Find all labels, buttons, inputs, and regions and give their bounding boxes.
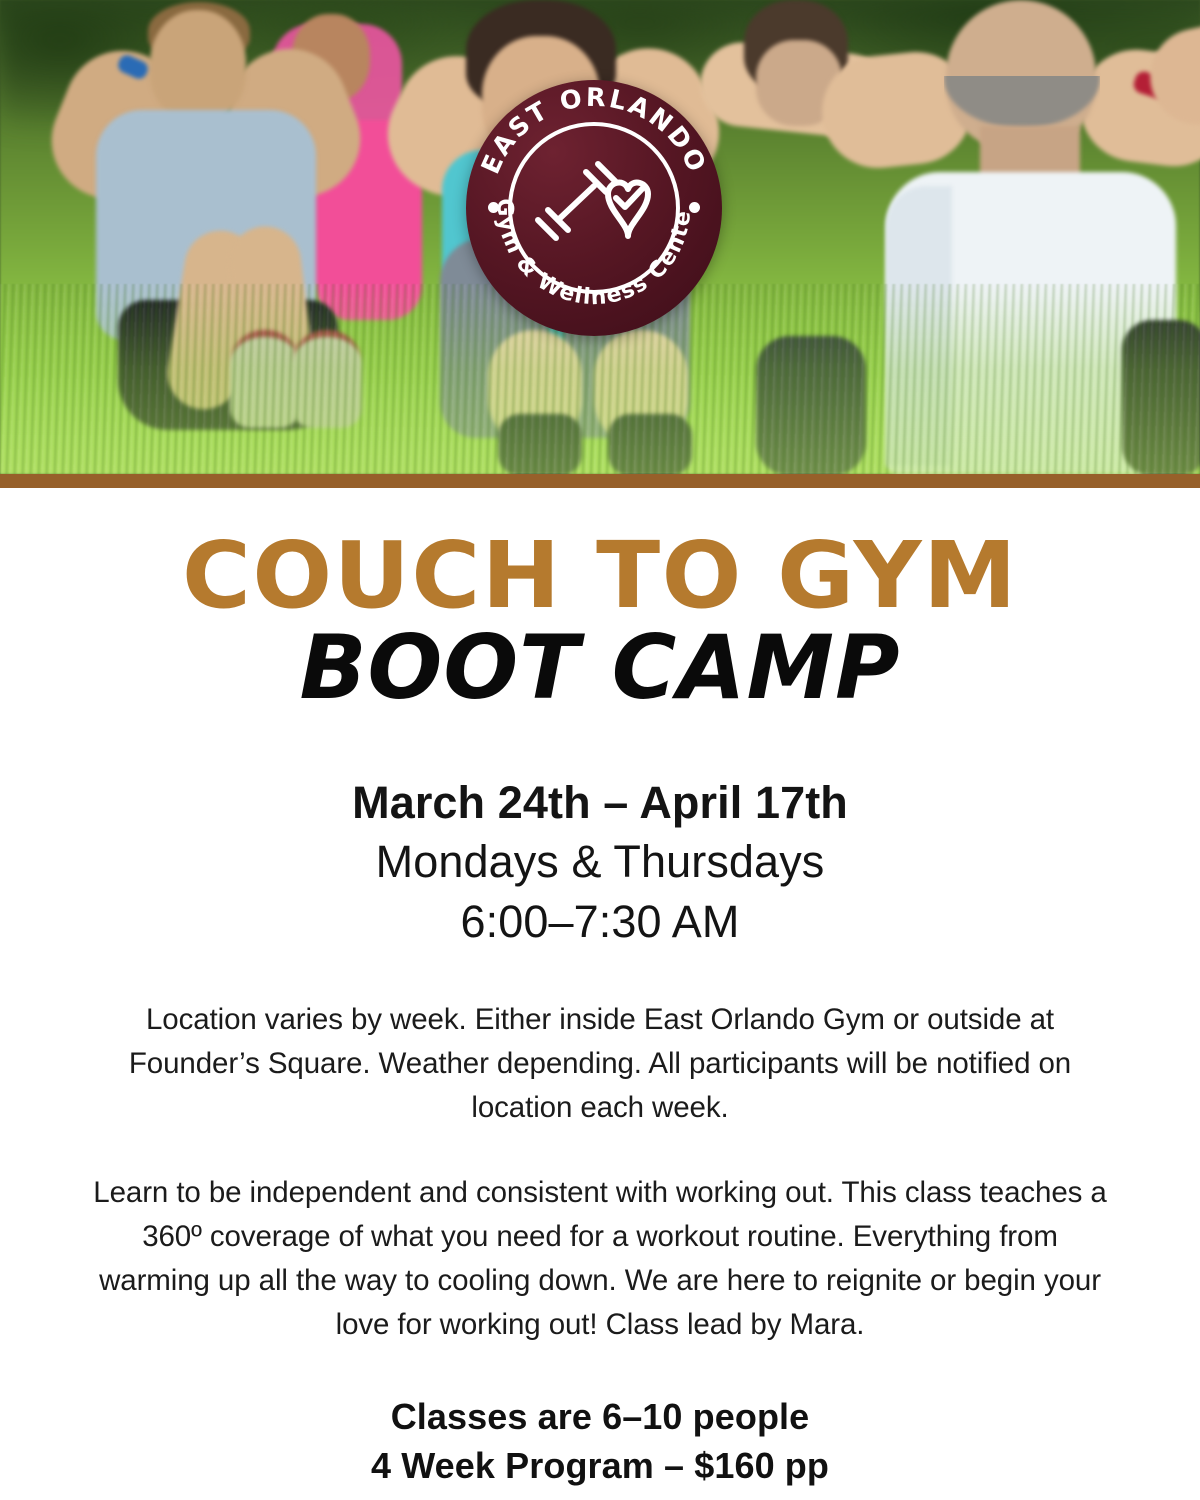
- title-line-boot-camp: BOOT CAMP: [0, 624, 1200, 712]
- footer-class-size: Classes are 6–10 people: [0, 1393, 1200, 1442]
- schedule-dates: March 24th – April 17th: [0, 774, 1200, 832]
- paragraph-location: Location varies by week. Either inside E…: [90, 998, 1110, 1130]
- footer-pricing: 4 Week Program – $160 pp: [0, 1442, 1200, 1491]
- east-orlando-gym-logo: EAST ORLANDO Gym & Wellness Center: [466, 80, 722, 336]
- paragraph-about: Learn to be independent and consistent w…: [90, 1171, 1110, 1347]
- schedule-block: March 24th – April 17th Mondays & Thursd…: [0, 774, 1200, 951]
- flyer-page: EAST ORLANDO Gym & Wellness Center: [0, 0, 1200, 1500]
- schedule-time: 6:00–7:30 AM: [0, 892, 1200, 952]
- flyer-content: COUCH TO GYM BOOT CAMP March 24th – Apri…: [0, 488, 1200, 1490]
- schedule-days: Mondays & Thursdays: [0, 832, 1200, 892]
- footer-block: Classes are 6–10 people 4 Week Program –…: [0, 1393, 1200, 1490]
- section-divider-bar: [0, 474, 1200, 488]
- dumbbell-heart-check-icon: [528, 158, 660, 258]
- title-line-couch-to-gym: COUCH TO GYM: [0, 532, 1200, 620]
- photo-man-left-head: [150, 10, 246, 120]
